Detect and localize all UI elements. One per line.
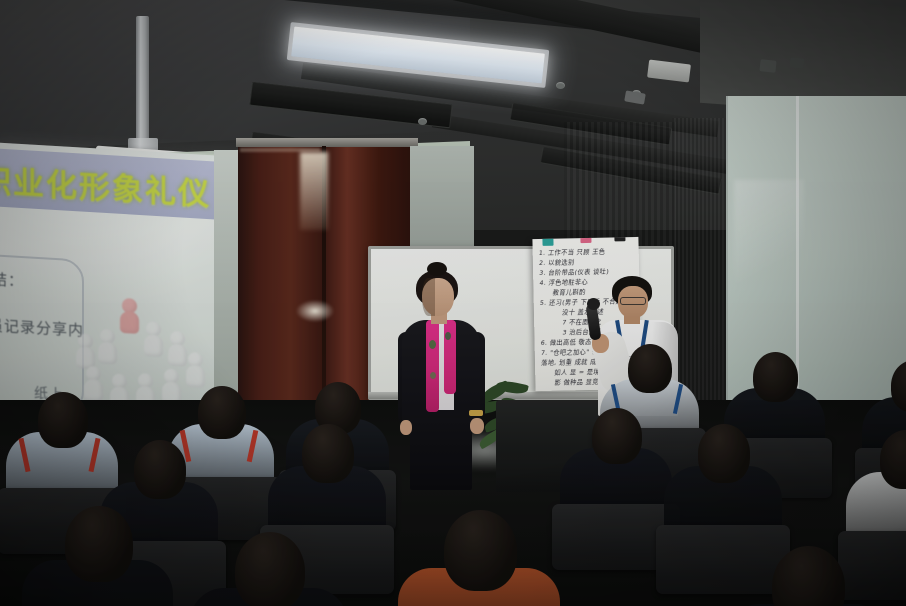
audience-head [198,386,246,439]
audience-member [726,546,900,606]
audience-head [753,352,798,402]
audience-head [628,344,672,393]
audience-head [38,392,88,448]
audience-member [22,506,184,606]
audience-head [444,510,517,591]
audience-head [592,408,642,464]
audience-member [190,532,358,606]
audience-head [65,506,133,582]
audience-head [772,546,845,606]
audience [0,0,906,606]
audience-head [134,440,187,499]
audience-head [698,424,751,483]
audience-head [235,532,305,606]
photo-scene: 职业化形象礼仪 总结： 学员记录分享内 纸上 [0,0,906,606]
audience-head [302,424,355,483]
audience-member [398,510,572,606]
